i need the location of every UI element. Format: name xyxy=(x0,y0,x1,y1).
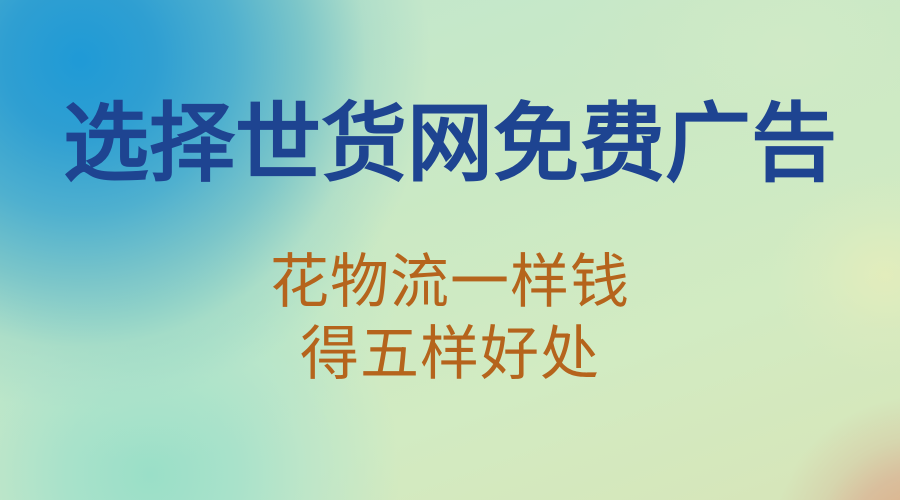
promo-banner: 选择世货网免费广告 花物流一样钱 得五样好处 xyxy=(0,0,900,500)
banner-subtitle-line-1: 花物流一样钱 xyxy=(0,246,900,318)
banner-subtitle-line-2: 得五样好处 xyxy=(0,318,900,390)
banner-headline: 选择世货网免费广告 xyxy=(0,96,900,192)
banner-subtitle: 花物流一样钱 得五样好处 xyxy=(0,246,900,390)
banner-content: 选择世货网免费广告 花物流一样钱 得五样好处 xyxy=(0,0,900,500)
